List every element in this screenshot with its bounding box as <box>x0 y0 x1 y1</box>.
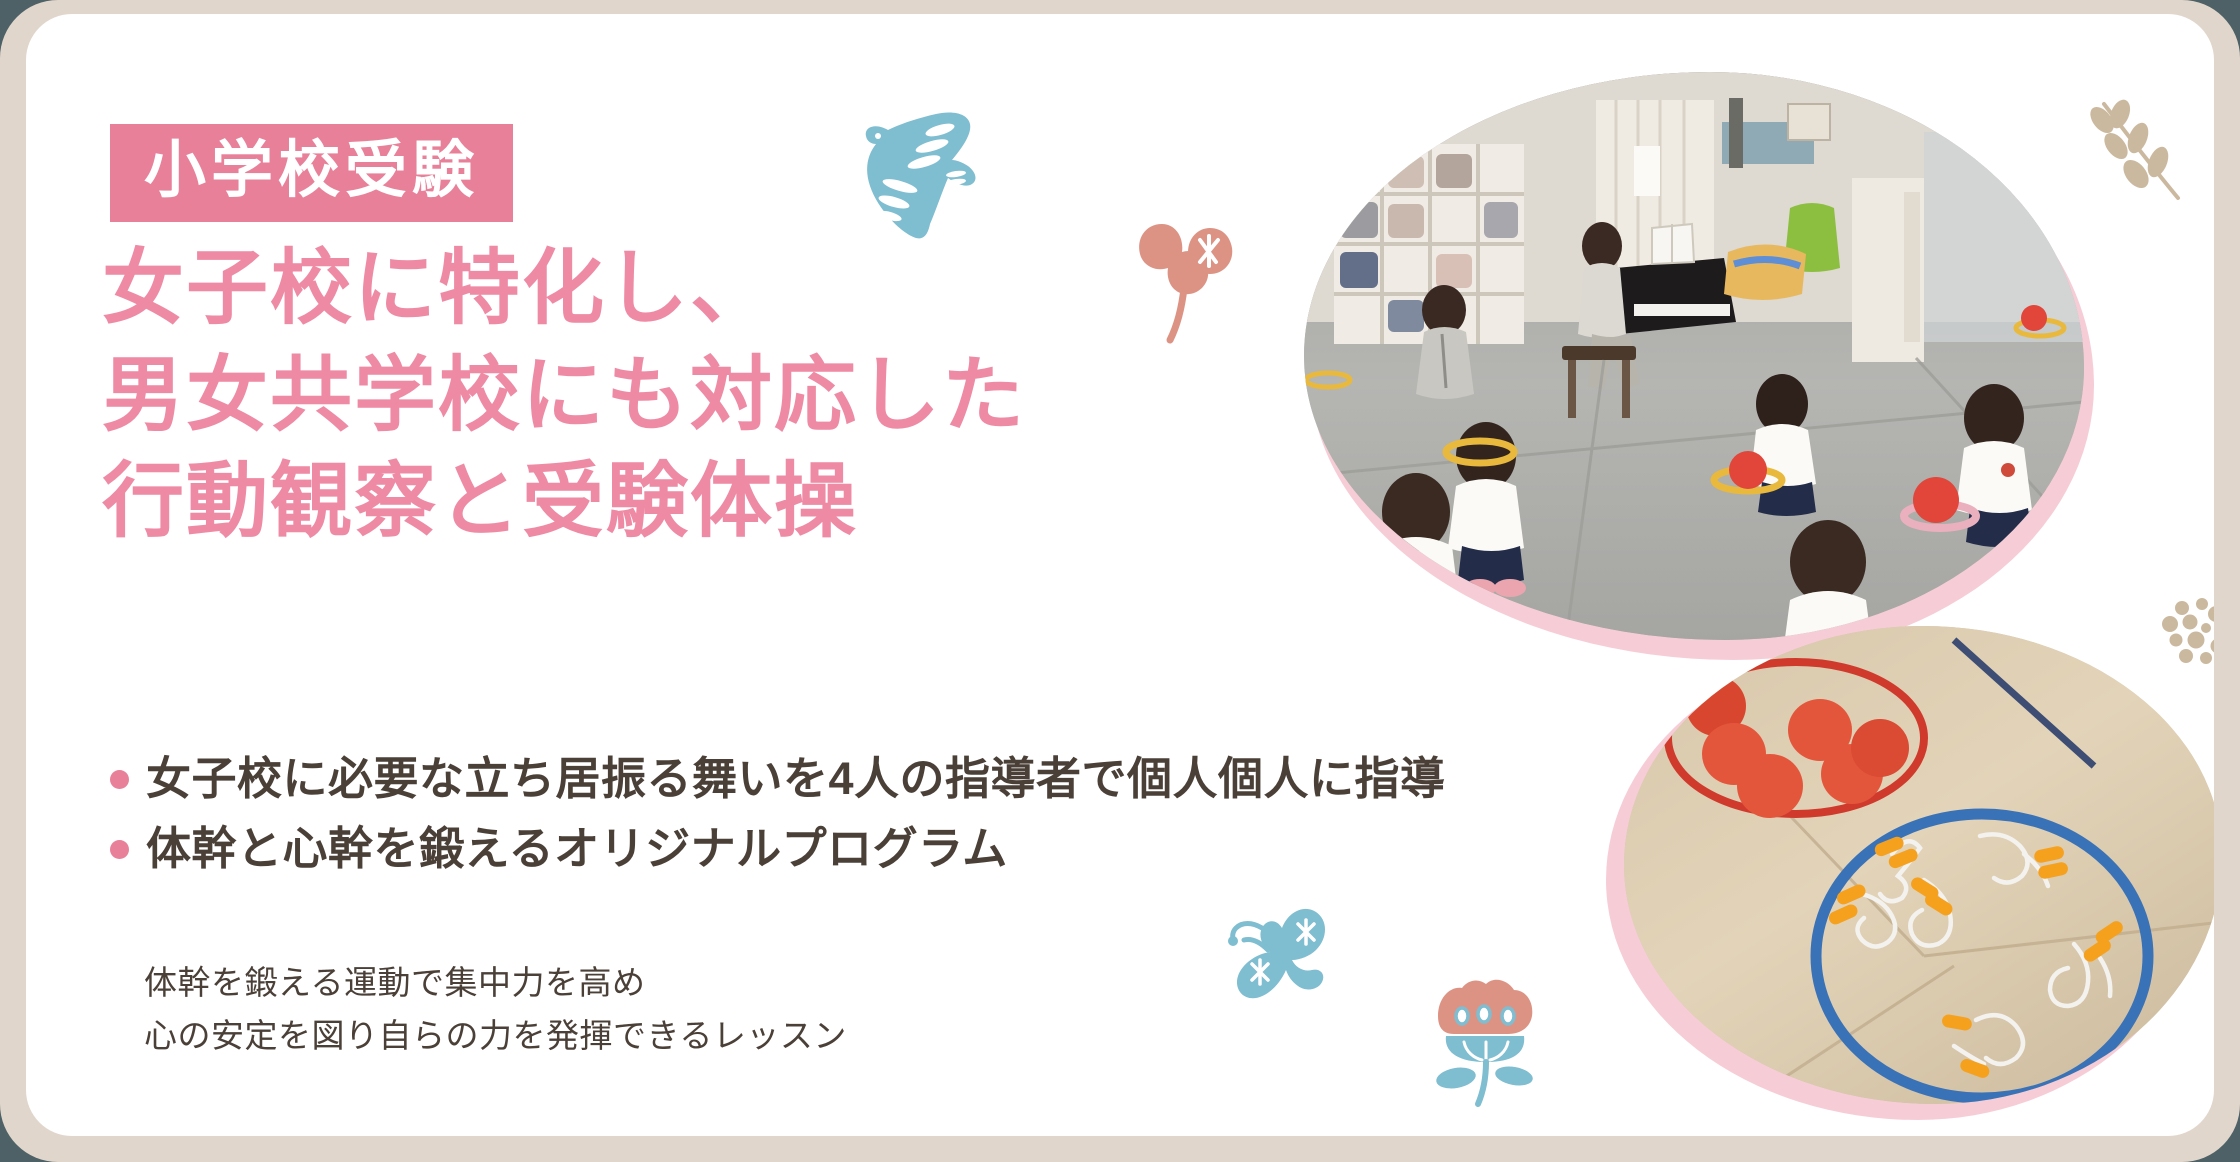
list-item-label: 体幹と心幹を鍛えるオリジナルプログラム <box>146 822 1008 876</box>
headline-line-3: 行動観察と受験体操 <box>102 449 1026 556</box>
clover-icon <box>1126 214 1244 342</box>
description-text: 体幹を鍛える運動で集中力を高め 心の安定を図り自らの力を発揮できるレッスン <box>144 956 847 1063</box>
outer-frame: 小学校受験 女子校に特化し、 男女共学校にも対応した 行動観察と受験体操 女子校… <box>0 0 2240 1162</box>
content-column: 小学校受験 女子校に特化し、 男女共学校にも対応した 行動観察と受験体操 女子校… <box>26 14 1326 1136</box>
equipment-photo <box>1624 626 2214 1104</box>
bullet-dot-icon <box>110 840 129 859</box>
equipment-photo-container <box>1624 626 2214 1112</box>
description-line-1: 体幹を鍛える運動で集中力を高め <box>144 956 847 1009</box>
bullet-dot-icon <box>110 770 129 789</box>
description-line-2: 心の安定を図り自らの力を発揮できるレッスン <box>144 1009 847 1062</box>
butterfly-icon <box>1218 902 1342 1022</box>
feature-list: 女子校に必要な立ち居振る舞いを4人の指導者で個人個人に指導 体幹と心幹を鍛えるオ… <box>110 752 1446 892</box>
headline-line-1: 女子校に特化し、 <box>102 236 1026 343</box>
list-item: 体幹と心幹を鍛えるオリジナルプログラム <box>110 822 1446 876</box>
gym-class-photo-container <box>1304 72 2094 652</box>
list-item: 女子校に必要な立ち居振る舞いを4人の指導者で個人個人に指導 <box>110 752 1446 806</box>
leaf-branch-icon <box>2086 96 2196 208</box>
page-title: 女子校に特化し、 男女共学校にも対応した 行動観察と受験体操 <box>102 236 1026 556</box>
category-badge: 小学校受験 <box>110 124 513 222</box>
gym-class-photo <box>1304 72 2084 640</box>
headline-line-2: 男女共学校にも対応した <box>102 343 1026 450</box>
flower-icon <box>1424 972 1542 1106</box>
promo-card: 小学校受験 女子校に特化し、 男女共学校にも対応した 行動観察と受験体操 女子校… <box>26 14 2214 1136</box>
bird-icon <box>844 92 984 242</box>
list-item-label: 女子校に必要な立ち居振る舞いを4人の指導者で個人個人に指導 <box>146 752 1446 806</box>
